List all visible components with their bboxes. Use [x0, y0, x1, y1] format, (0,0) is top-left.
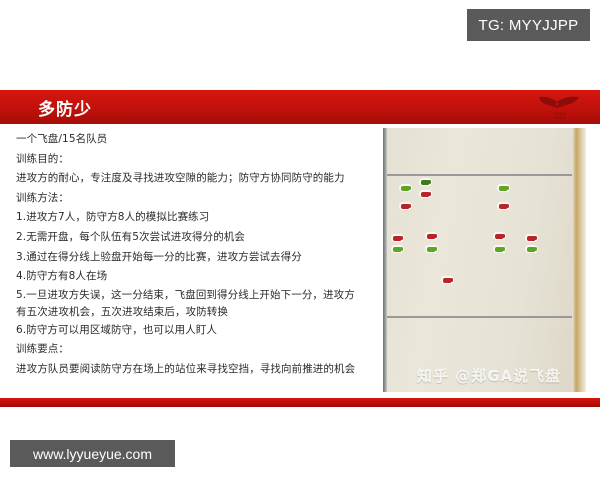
board-field-surface: [387, 128, 572, 392]
marker-head: [450, 278, 453, 281]
logo-subtitle-line2: FRISBEE: [552, 116, 567, 120]
marker-head: [400, 247, 403, 250]
text-line: 6.防守方可以用区域防守，也可以用人盯人: [16, 321, 372, 341]
marker-head: [506, 186, 509, 189]
player-marker-red: [497, 202, 510, 210]
tactics-board-photo: 知乎 @郑GA说飞盘: [383, 128, 586, 392]
telegram-watermark-label: TG: MYYJJPP: [479, 17, 579, 34]
bottom-red-divider: [0, 398, 600, 407]
text-line: 3.通过在得分线上验盘开始每一分的比赛，进攻方尝试去得分: [16, 248, 372, 268]
marker-head: [434, 234, 437, 237]
player-marker-red: [425, 232, 438, 240]
field-line-upper: [387, 174, 572, 176]
board-right-edge: [572, 128, 586, 392]
site-watermark-label: www.lyyueyue.com: [33, 446, 152, 462]
marker-head: [534, 247, 537, 250]
player-marker-green: [391, 245, 404, 253]
player-marker-red: [525, 234, 538, 242]
page-title: 多防少: [38, 95, 92, 120]
text-line: 训练方法：: [16, 189, 372, 209]
wing-icon: [537, 95, 581, 112]
slide-header-bar: 多防少 飞盘运动 FRISBEE: [0, 90, 600, 124]
text-line: 2.无需开盘，每个队伍有5次尝试进攻得分的机会: [16, 228, 372, 248]
marker-head: [434, 247, 437, 250]
marker-head: [502, 247, 505, 250]
site-watermark-badge: www.lyyueyue.com: [10, 440, 175, 467]
field-line-lower: [387, 316, 572, 318]
telegram-watermark-badge: TG: MYYJJPP: [467, 9, 590, 41]
player-marker-red: [419, 190, 432, 198]
marker-head: [408, 204, 411, 207]
player-marker-red: [391, 234, 404, 242]
zhihu-watermark: 知乎 @郑GA说飞盘: [417, 365, 561, 386]
marker-head: [400, 236, 403, 239]
training-description-text: 一个飞盘/15名队员 训练目的： 进攻方的耐心，专注度及寻找进攻空隙的能力；防守…: [16, 130, 372, 380]
text-line: 5.一旦进攻方失误，这一分结束，飞盘回到得分线上开始下一分，进攻方 有五次进攻机…: [16, 287, 372, 321]
player-marker-green: [493, 245, 506, 253]
text-line: 4.防守方有8人在场: [16, 267, 372, 287]
player-marker-red: [441, 276, 454, 284]
text-line: 一个飞盘/15名队员: [16, 130, 372, 150]
slide-content: 一个飞盘/15名队员 训练目的： 进攻方的耐心，专注度及寻找进攻空隙的能力；防守…: [0, 124, 600, 398]
text-line: 1.进攻方7人，防守方8人的模拟比赛练习: [16, 208, 372, 228]
marker-head: [428, 192, 431, 195]
player-marker-green: [525, 245, 538, 253]
player-marker-green: [497, 184, 510, 192]
winged-emblem-logo: 飞盘运动 FRISBEE: [536, 92, 582, 122]
text-line: 训练目的：: [16, 150, 372, 170]
player-marker-red: [399, 202, 412, 210]
player-marker-red: [493, 232, 506, 240]
marker-head: [534, 236, 537, 239]
player-marker-green: [399, 184, 412, 192]
text-line: 训练要点：: [16, 340, 372, 360]
marker-head: [408, 186, 411, 189]
player-marker-green: [425, 245, 438, 253]
marker-head: [502, 234, 505, 237]
marker-head: [428, 180, 431, 183]
text-line: 进攻方队员要阅读防守方在场上的站位来寻找空挡，寻找向前推进的机会: [16, 360, 372, 380]
text-line: 进攻方的耐心，专注度及寻找进攻空隙的能力；防守方协同防守的能力: [16, 169, 372, 189]
player-marker-green: [419, 178, 432, 186]
marker-head: [506, 204, 509, 207]
